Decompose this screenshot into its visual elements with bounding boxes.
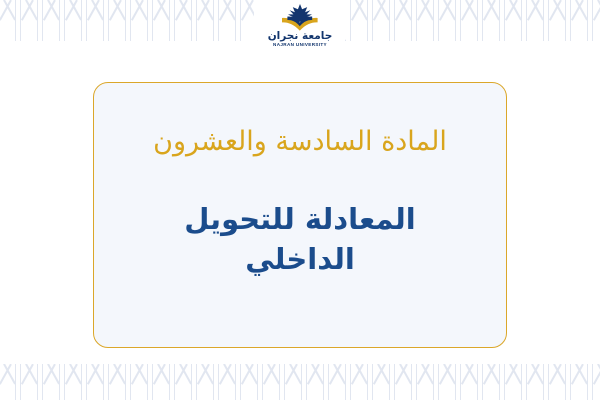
n-monogram-glyph	[480, 364, 502, 400]
n-monogram-glyph	[216, 364, 238, 400]
n-monogram-glyph	[18, 364, 40, 400]
n-monogram-glyph	[128, 0, 150, 41]
n-monogram-glyph	[524, 0, 546, 41]
n-monogram-glyph	[282, 364, 304, 400]
n-monogram-glyph	[590, 0, 600, 41]
n-monogram-glyph	[458, 0, 480, 41]
logo-arabic-name: جامعة نجران	[268, 31, 333, 42]
n-monogram-glyph	[40, 364, 62, 400]
n-monogram-glyph	[458, 364, 480, 400]
n-monogram-glyph	[238, 364, 260, 400]
decorative-pattern-band-bottom	[0, 364, 600, 400]
n-monogram-glyph	[502, 0, 524, 41]
n-monogram-glyph	[62, 0, 84, 41]
article-label: المادة السادسة والعشرون	[153, 125, 447, 159]
n-monogram-glyph	[436, 0, 458, 41]
n-monogram-glyph	[84, 364, 106, 400]
university-logo-shield: جامعة نجران NAJRAN UNIVERSITY	[254, 0, 346, 58]
n-monogram-glyph	[172, 364, 194, 400]
n-monogram-glyph	[128, 364, 150, 400]
n-monogram-glyph	[106, 364, 128, 400]
logo-english-name: NAJRAN UNIVERSITY	[273, 42, 327, 47]
n-monogram-glyph	[106, 0, 128, 41]
n-monogram-glyph	[62, 364, 84, 400]
university-logo: جامعة نجران NAJRAN UNIVERSITY	[254, 4, 346, 47]
n-monogram-glyph	[150, 364, 172, 400]
n-monogram-glyph	[392, 364, 414, 400]
n-monogram-glyph	[172, 0, 194, 41]
n-monogram-glyph	[84, 0, 106, 41]
content-card: المادة السادسة والعشرون المعادلة للتحويل…	[93, 82, 507, 348]
slide-canvas: جامعة نجران NAJRAN UNIVERSITY المادة الس…	[0, 0, 600, 400]
n-monogram-glyph	[524, 364, 546, 400]
n-monogram-glyph	[304, 364, 326, 400]
n-monogram-glyph	[546, 0, 568, 41]
n-monogram-glyph	[260, 364, 282, 400]
n-monogram-glyph	[194, 0, 216, 41]
n-monogram-glyph	[414, 364, 436, 400]
n-monogram-glyph	[370, 364, 392, 400]
n-monogram-glyph	[216, 0, 238, 41]
n-monogram-glyph	[150, 0, 172, 41]
n-monogram-glyph	[392, 0, 414, 41]
n-monogram-glyph	[502, 364, 524, 400]
n-monogram-glyph	[194, 364, 216, 400]
n-monogram-glyph	[590, 364, 600, 400]
n-monogram-glyph	[480, 0, 502, 41]
n-monogram-glyph	[40, 0, 62, 41]
n-monogram-glyph	[18, 0, 40, 41]
n-monogram-glyph	[546, 364, 568, 400]
n-monogram-glyph	[326, 364, 348, 400]
najran-star-book-emblem	[278, 4, 322, 31]
n-monogram-glyph	[0, 364, 18, 400]
n-monogram-glyph	[568, 364, 590, 400]
n-monogram-glyph	[370, 0, 392, 41]
n-monogram-glyph	[348, 364, 370, 400]
page-title: المعادلة للتحويل الداخلي	[140, 199, 460, 279]
n-monogram-glyph	[0, 0, 18, 41]
n-monogram-glyph	[414, 0, 436, 41]
n-monogram-glyph	[568, 0, 590, 41]
n-monogram-glyph	[436, 364, 458, 400]
n-monogram-glyph	[348, 0, 370, 41]
